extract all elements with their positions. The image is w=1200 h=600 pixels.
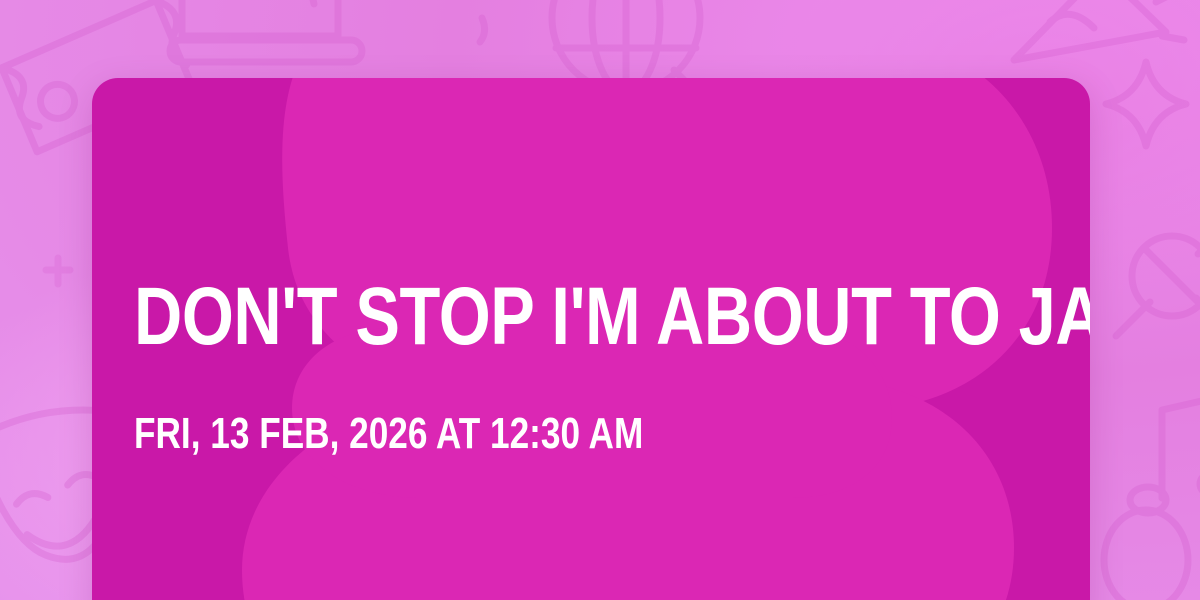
event-title: DON'T STOP I'M ABOUT TO JAZZ: [134, 276, 1090, 358]
laptop-icon: [170, 0, 362, 62]
event-banner: DON'T STOP I'M ABOUT TO JAZZ FRI, 13 FEB…: [0, 0, 1200, 600]
event-date-time: FRI, 13 FEB, 2026 AT 12:30 AM: [134, 412, 643, 456]
event-card-content: DON'T STOP I'M ABOUT TO JAZZ FRI, 13 FEB…: [134, 78, 1050, 600]
confetti-icon: [1014, 0, 1184, 60]
event-card[interactable]: DON'T STOP I'M ABOUT TO JAZZ FRI, 13 FEB…: [92, 78, 1090, 600]
music-note-icon: [1130, 394, 1200, 513]
sparkle-star-icon: [1106, 62, 1186, 146]
microphone-icon: [1116, 220, 1200, 338]
balloon-icon: [1104, 510, 1188, 600]
